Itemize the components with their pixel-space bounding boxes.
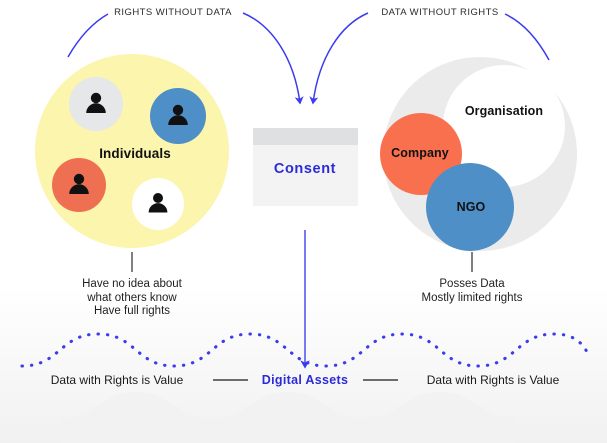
- footer-left-text: Data with Rights is Value: [51, 373, 184, 387]
- banner-label-data-without-rights: DATA WITHOUT RIGHTS: [381, 7, 498, 18]
- consent-panel-label: Consent: [274, 161, 336, 178]
- right-banner-arrow: [313, 13, 368, 103]
- left-banner-arrow: [243, 13, 300, 103]
- consent-panel-header: [253, 128, 358, 145]
- individuals-note: Have no idea about what others know Have…: [82, 278, 182, 319]
- diagram-canvas: RIGHTS WITHOUT DATA DATA WITHOUT RIGHTS …: [0, 0, 607, 443]
- footer-center-text: Digital Assets: [262, 373, 348, 388]
- individuals-cluster-label: Individuals: [99, 146, 171, 162]
- ngo-bubble-label: NGO: [457, 200, 486, 215]
- organisation-bubble-label: Organisation: [465, 104, 543, 119]
- right-banner-tail: [505, 14, 549, 60]
- bottom-wave-decoration: [60, 392, 516, 443]
- banner-label-rights-without-data: RIGHTS WITHOUT DATA: [114, 7, 232, 18]
- organisation-note: Posses Data Mostly limited rights: [422, 278, 523, 305]
- company-bubble-label: Company: [391, 146, 449, 161]
- footer-right-text: Data with Rights is Value: [427, 373, 560, 387]
- left-banner-tail: [68, 14, 108, 57]
